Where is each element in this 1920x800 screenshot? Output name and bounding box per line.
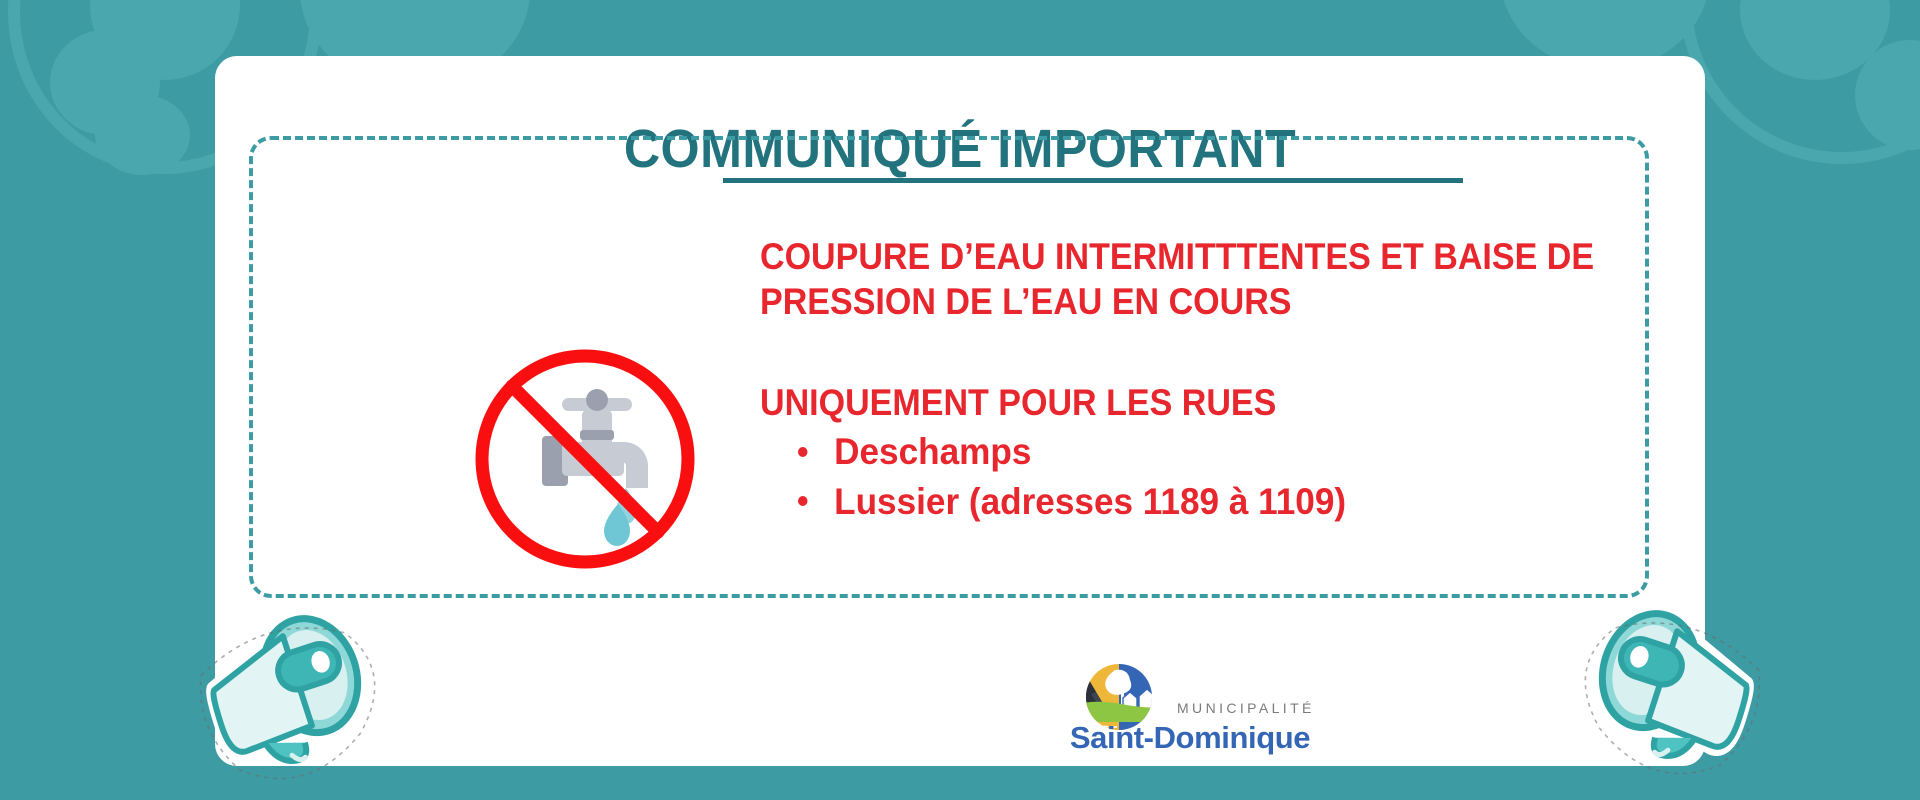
municipality-logo: MUNICIPALITÉ Saint-Dominique <box>1055 664 1325 766</box>
street-list: Deschamps Lussier (adresses 1189 à 1109) <box>760 429 1705 523</box>
list-item: Deschamps <box>760 429 1705 474</box>
megaphone-icon <box>190 605 390 790</box>
no-water-faucet-icon <box>470 344 700 574</box>
decorative-blob <box>95 95 190 175</box>
headline-line-1: COUPURE D’EAU INTERMITTTENTES ET BAISE D… <box>760 234 1705 279</box>
streets-subheading: UNIQUEMENT POUR LES RUES <box>760 380 1705 425</box>
notice-card: COMMUNIQUÉ IMPORTANT COUPURE D’EAU INTE <box>215 56 1705 766</box>
logo-prefix: MUNICIPALITÉ <box>1177 700 1315 716</box>
alert-text-block: COUPURE D’EAU INTERMITTTENTES ET BAISE D… <box>760 234 1705 528</box>
text-spacer <box>760 324 1705 380</box>
logo-name: Saint-Dominique <box>1055 720 1325 756</box>
list-item: Lussier (adresses 1189 à 1109) <box>760 479 1705 524</box>
megaphone-icon <box>1570 600 1770 785</box>
headline-line-2: PRESSION DE L’EAU EN COURS <box>760 279 1705 324</box>
